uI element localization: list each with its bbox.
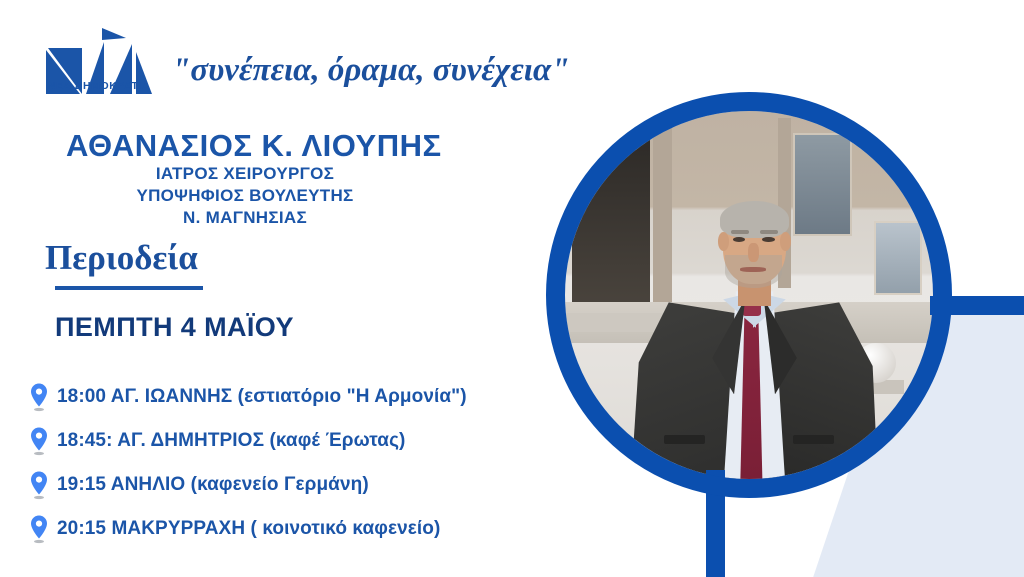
schedule-stop-text: 19:15 ΑΝΗΛΙΟ (καφενείο Γερμάνη) bbox=[57, 474, 369, 496]
campaign-tour-poster: ΝΕΑ ΔΗΜΟΚΡΑΤΙΑ "συνέπεια, όραμα, συνέχει… bbox=[0, 0, 1024, 577]
candidate-profession: ΙΑΤΡΟΣ ΧΕΙΡΟΥΡΓΟΣ bbox=[0, 164, 490, 184]
campaign-tagline: "συνέπεια, όραμα, συνέχεια" bbox=[172, 52, 570, 89]
tour-title: Περιοδεία bbox=[45, 238, 198, 278]
tour-date: ΠΕΜΠΤΗ 4 ΜΑΪΟΥ bbox=[55, 312, 294, 343]
map-pin-icon bbox=[28, 514, 50, 544]
candidate-role: ΥΠΟΨΗΦΙΟΣ ΒΟΥΛΕΥΤΗΣ bbox=[0, 186, 490, 206]
schedule-stop-text: 18:45: ΑΓ. ΔΗΜΗΤΡΙΟΣ (καφέ Έρωτας) bbox=[57, 430, 405, 452]
list-item: 19:15 ΑΝΗΛΙΟ (καφενείο Γερμάνη) bbox=[28, 463, 548, 507]
circle-frame-tab bbox=[930, 296, 1024, 315]
map-pin-icon bbox=[28, 382, 50, 412]
list-item: 20:15 ΜΑΚΡΥΡΡΑΧΗ ( κοινοτικό καφενείο) bbox=[28, 507, 548, 551]
party-logo-text: ΝΕΑ ΔΗΜΟΚΡΑΤΙΑ bbox=[40, 80, 158, 92]
candidate-constituency: Ν. ΜΑΓΝΗΣΙΑΣ bbox=[0, 208, 490, 228]
tour-title-divider bbox=[55, 286, 203, 290]
candidate-name: ΑΘΑΝΑΣΙΟΣ Κ. ΛΙΟΥΠΗΣ bbox=[66, 128, 442, 164]
list-item: 18:00 ΑΓ. ΙΩΑΝΝΗΣ (εστιατόριο "Η Αρμονία… bbox=[28, 375, 548, 419]
list-item: 18:45: ΑΓ. ΔΗΜΗΤΡΙΟΣ (καφέ Έρωτας) bbox=[28, 419, 548, 463]
tour-schedule-list: 18:00 ΑΓ. ΙΩΑΝΝΗΣ (εστιατόριο "Η Αρμονία… bbox=[28, 375, 548, 551]
map-pin-icon bbox=[28, 470, 50, 500]
schedule-stop-text: 18:00 ΑΓ. ΙΩΑΝΝΗΣ (εστιατόριο "Η Αρμονία… bbox=[57, 386, 467, 408]
circle-photo-frame bbox=[546, 92, 952, 498]
schedule-stop-text: 20:15 ΜΑΚΡΥΡΡΑΧΗ ( κοινοτικό καφενείο) bbox=[57, 518, 440, 540]
map-pin-icon bbox=[28, 426, 50, 456]
